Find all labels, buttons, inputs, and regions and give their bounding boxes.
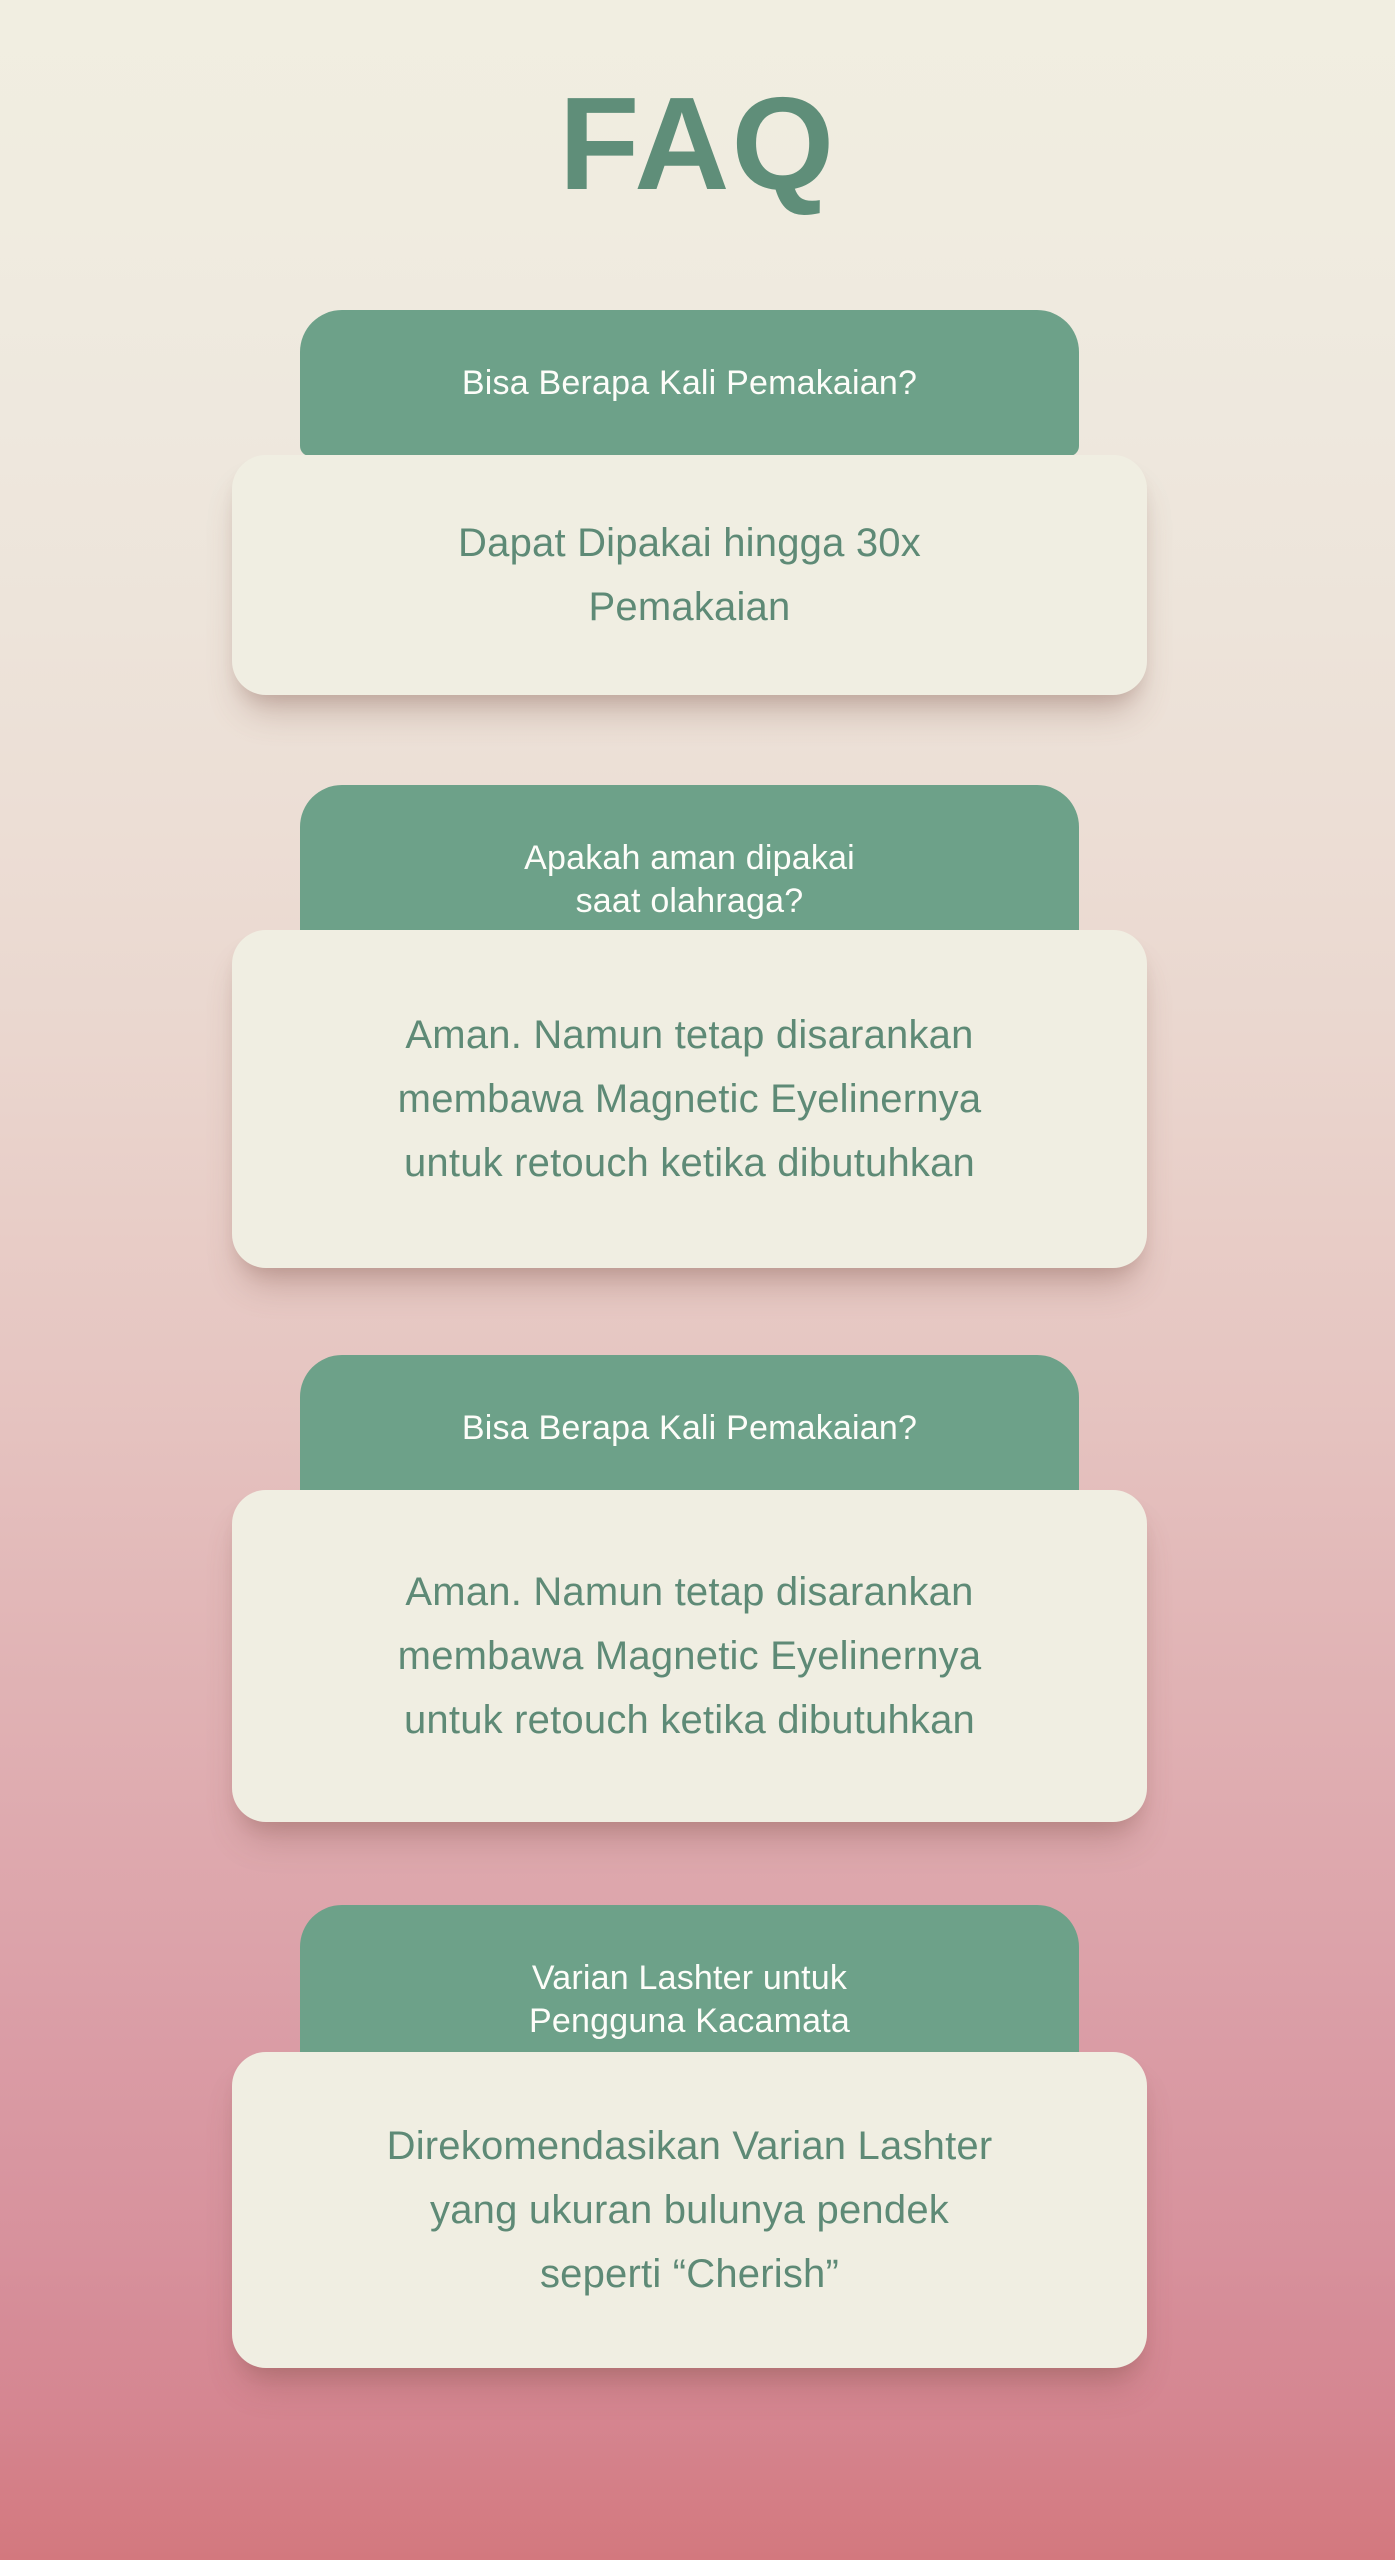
answer-line: membawa Magnetic Eyelinernya <box>398 1067 982 1131</box>
answer-line: Aman. Namun tetap disarankan <box>405 1003 973 1067</box>
answer-line: membawa Magnetic Eyelinernya <box>398 1624 982 1688</box>
answer-line: Aman. Namun tetap disarankan <box>405 1560 973 1624</box>
answer-line: untuk retouch ketika dibutuhkan <box>404 1688 975 1752</box>
question-line: Pengguna Kacamata <box>529 2000 850 2043</box>
faq-question-1-text: Bisa Berapa Kali Pemakaian? <box>462 362 917 405</box>
faq-question-1[interactable]: Bisa Berapa Kali Pemakaian? <box>300 310 1079 456</box>
faq-page: FAQ Bisa Berapa Kali Pemakaian? Dapat Di… <box>0 0 1395 2560</box>
question-line: saat olahraga? <box>524 880 855 923</box>
faq-answer-4: Direkomendasikan Varian Lashter yang uku… <box>232 2052 1147 2368</box>
answer-line: Dapat Dipakai hingga 30x <box>458 511 921 575</box>
faq-question-4-text: Varian Lashter untuk Pengguna Kacamata <box>529 1957 850 2043</box>
answer-line: Direkomendasikan Varian Lashter <box>387 2114 993 2178</box>
faq-answer-2: Aman. Namun tetap disarankan membawa Mag… <box>232 930 1147 1268</box>
question-line: Bisa Berapa Kali Pemakaian? <box>462 362 917 405</box>
question-line: Apakah aman dipakai <box>524 837 855 880</box>
faq-question-2-text: Apakah aman dipakai saat olahraga? <box>524 837 855 923</box>
question-line: Varian Lashter untuk <box>529 1957 850 2000</box>
answer-line: seperti “Cherish” <box>540 2242 839 2306</box>
answer-line: yang ukuran bulunya pendek <box>430 2178 949 2242</box>
answer-line: Pemakaian <box>589 575 791 639</box>
page-title: FAQ <box>0 78 1395 210</box>
answer-line: untuk retouch ketika dibutuhkan <box>404 1131 975 1195</box>
faq-answer-3: Aman. Namun tetap disarankan membawa Mag… <box>232 1490 1147 1822</box>
faq-question-3-text: Bisa Berapa Kali Pemakaian? <box>462 1407 917 1450</box>
faq-answer-1: Dapat Dipakai hingga 30x Pemakaian <box>232 455 1147 695</box>
question-line: Bisa Berapa Kali Pemakaian? <box>462 1407 917 1450</box>
faq-question-3[interactable]: Bisa Berapa Kali Pemakaian? <box>300 1355 1079 1501</box>
